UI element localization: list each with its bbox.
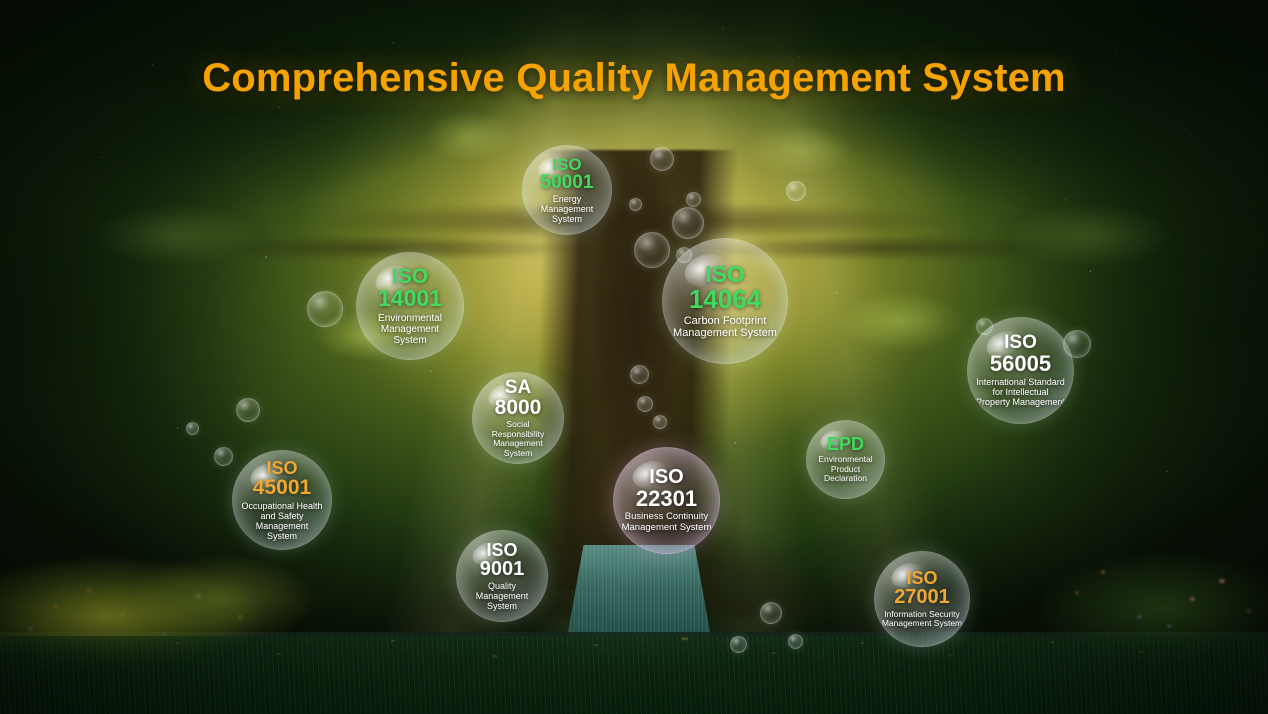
standard-code-line2: 14064: [689, 286, 761, 313]
decorative-bubble: [788, 634, 803, 649]
decorative-bubble: [634, 232, 670, 268]
standard-description: Energy Management System: [523, 194, 611, 224]
decorative-bubble: [786, 181, 806, 201]
standard-bubble-iso-45001[interactable]: ISO 45001 Occupational Health and Safety…: [232, 450, 332, 550]
standard-bubble-sa-8000[interactable]: SA 8000 Social Responsibility Management…: [472, 372, 564, 464]
decorative-bubble: [629, 198, 642, 211]
standard-code-line2: 9001: [480, 559, 525, 579]
decorative-bubble: [637, 396, 653, 412]
standard-code-line1: ISO: [552, 156, 581, 173]
decorative-bubble: [630, 365, 649, 384]
standard-bubble-iso-14001[interactable]: ISO 14001 Environmental Management Syste…: [356, 252, 464, 360]
standard-code-line2: 45001: [253, 477, 311, 498]
standard-code-line2: 22301: [636, 488, 697, 510]
standard-code-line1: ISO: [266, 459, 297, 477]
decorative-bubble: [672, 207, 704, 239]
standard-description: Carbon Footprint Management System: [663, 315, 787, 340]
page-title: Comprehensive Quality Management System: [0, 56, 1268, 101]
foreground-grass: [0, 636, 1268, 714]
standard-description: Environmental Product Declaration: [807, 455, 884, 484]
standard-code-line1: ISO: [649, 467, 683, 487]
standard-bubble-iso-9001[interactable]: ISO 9001 Quality Management System: [456, 530, 548, 622]
standard-code-line2: 14001: [378, 287, 442, 310]
standard-code-line2: 50001: [541, 173, 594, 192]
standard-description: Occupational Health and Safety Managemen…: [233, 501, 331, 541]
standard-description: International Standard for Intellectual …: [968, 377, 1073, 407]
standard-code-line1: ISO: [705, 263, 745, 286]
decorative-bubble: [653, 415, 667, 429]
decorative-bubble: [307, 291, 343, 327]
decorative-bubble: [686, 192, 701, 207]
standard-description: Business Continuity Management System: [614, 512, 719, 533]
standard-code-line1: EPD: [827, 435, 864, 453]
standard-description: Information Security Management System: [875, 610, 969, 629]
standard-bubble-iso-14064[interactable]: ISO 14064 Carbon Footprint Management Sy…: [662, 238, 788, 364]
decorative-bubble: [186, 422, 199, 435]
decorative-bubble: [650, 147, 674, 171]
decorative-bubble: [214, 447, 233, 466]
standard-bubble-iso-22301[interactable]: ISO 22301 Business Continuity Management…: [613, 447, 720, 554]
standard-bubble-iso-56005[interactable]: ISO 56005 International Standard for Int…: [967, 317, 1074, 424]
standard-description: Environmental Management System: [357, 313, 463, 347]
standard-code-line2: 27001: [894, 587, 950, 607]
standard-description: Quality Management System: [457, 581, 547, 611]
standard-code-line2: 56005: [990, 353, 1051, 375]
standard-code-line2: 8000: [495, 397, 542, 418]
decorative-bubble: [730, 636, 747, 653]
infographic-scene: Comprehensive Quality Management System …: [0, 0, 1268, 714]
standard-code-line1: ISO: [906, 569, 937, 587]
decorative-bubble: [236, 398, 260, 422]
standard-bubble-epd[interactable]: EPD Environmental Product Declaration: [806, 420, 885, 499]
decorative-bubble: [760, 602, 782, 624]
standard-code-line1: ISO: [1004, 333, 1037, 352]
standard-bubble-iso-27001[interactable]: ISO 27001 Information Security Managemen…: [874, 551, 970, 647]
standard-bubble-iso-50001[interactable]: ISO 50001 Energy Management System: [522, 145, 612, 235]
standard-code-line1: SA: [505, 378, 531, 397]
standard-code-line1: ISO: [486, 541, 517, 559]
standard-code-line1: ISO: [392, 266, 428, 287]
standard-description: Social Responsibility Management System: [473, 420, 563, 458]
